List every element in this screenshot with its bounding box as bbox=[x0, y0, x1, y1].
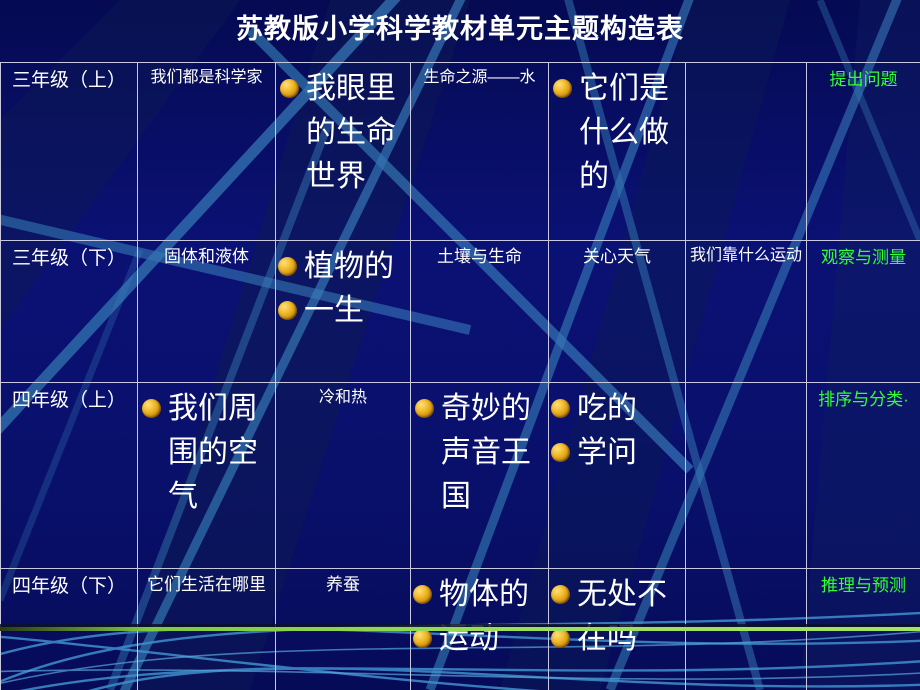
unit-label: 无处不 bbox=[577, 573, 683, 617]
gold-bullet-icon bbox=[551, 443, 570, 462]
unit-label: 土壤与生命 bbox=[411, 241, 548, 269]
unit-label: 生命之源——水 bbox=[411, 63, 548, 89]
gold-bullet-icon bbox=[551, 629, 570, 648]
bottom-green-rule bbox=[0, 627, 920, 631]
skill-label: 推理与预测 bbox=[807, 569, 920, 599]
grade-cell: 三年级（下） bbox=[1, 241, 138, 383]
unit-cell-empty bbox=[686, 63, 807, 241]
unit-label: 我们周围的空气 bbox=[168, 387, 273, 519]
unit-label: 养蚕 bbox=[276, 569, 410, 597]
unit-cell: 土壤与生命 bbox=[411, 241, 549, 383]
unit-cell: 我们靠什么运动 bbox=[686, 241, 807, 383]
gold-bullet-icon bbox=[553, 79, 572, 98]
unit-label bbox=[686, 63, 806, 67]
bullet-line: 一生 bbox=[278, 289, 408, 333]
unit-label: 我们都是科学家 bbox=[138, 63, 275, 89]
grade-cell: 三年级（上） bbox=[1, 63, 138, 241]
gold-bullet-icon bbox=[551, 585, 570, 604]
unit-label: 关心天气 bbox=[549, 241, 685, 269]
unit-label: 物体的 bbox=[439, 573, 546, 617]
bullet-line: 植物的 bbox=[278, 245, 408, 289]
unit-label: 吃的 bbox=[577, 387, 683, 431]
unit-cell: 生命之源——水 bbox=[411, 63, 549, 241]
unit-label: 我眼里的生命世界 bbox=[306, 67, 408, 199]
grade-label: 三年级（上） bbox=[1, 63, 137, 94]
unit-cell: 我们周围的空气 bbox=[138, 383, 276, 569]
gold-bullet-icon bbox=[415, 399, 434, 418]
unit-bulleted: 我眼里的生命世界 bbox=[276, 63, 410, 199]
unit-label bbox=[686, 569, 806, 573]
unit-theme-table: 三年级（上） 我们都是科学家 我眼里的生命世界 生命之源——水 bbox=[0, 62, 920, 690]
unit-bulleted: 奇妙的声音王国 bbox=[411, 383, 548, 519]
gold-bullet-icon bbox=[280, 79, 299, 98]
grade-label: 四年级（上） bbox=[1, 383, 137, 414]
gold-bullet-icon bbox=[142, 399, 161, 418]
bullet-line: 吃的 bbox=[551, 387, 683, 431]
unit-label: 植物的 bbox=[304, 245, 408, 289]
slide-title: 苏教版小学科学教材单元主题构造表 bbox=[0, 12, 920, 46]
unit-cell: 吃的 学问 bbox=[549, 383, 686, 569]
unit-bulleted: 吃的 学问 bbox=[549, 383, 685, 475]
skill-cell: 排序与分类· bbox=[807, 383, 920, 569]
grade-label: 四年级（下） bbox=[1, 569, 137, 600]
unit-label: 固体和液体 bbox=[138, 241, 275, 269]
grade-cell: 四年级（上） bbox=[1, 383, 138, 569]
skill-label: 观察与测量 bbox=[807, 241, 920, 271]
unit-cell: 冷和热 bbox=[276, 383, 411, 569]
gold-bullet-icon bbox=[413, 585, 432, 604]
skill-label: 提出问题 bbox=[807, 63, 920, 93]
slide-canvas: 苏教版小学科学教材单元主题构造表 三年级（上） 我们都是科学家 我眼里的生命世界 bbox=[0, 0, 920, 690]
unit-bulleted: 我们周围的空气 bbox=[138, 383, 275, 519]
bullet-line: 学问 bbox=[551, 431, 683, 475]
unit-label: 奇妙的声音王国 bbox=[441, 387, 546, 519]
unit-bulleted: 植物的 一生 bbox=[276, 241, 410, 333]
unit-bulleted: 它们是什么做的 bbox=[549, 63, 685, 199]
unit-label: 我们靠什么运动 bbox=[686, 241, 806, 267]
unit-cell: 植物的 一生 bbox=[276, 241, 411, 383]
unit-bulleted: 物体的 运动 bbox=[411, 569, 548, 661]
bullet-line: 物体的 bbox=[413, 573, 546, 617]
unit-label bbox=[686, 383, 806, 387]
unit-label: 冷和热 bbox=[276, 383, 410, 409]
table-row: 三年级（上） 我们都是科学家 我眼里的生命世界 生命之源——水 bbox=[1, 63, 920, 241]
table-row: 三年级（下） 固体和液体 植物的 一生 bbox=[1, 241, 920, 383]
unit-label: 它们是什么做的 bbox=[579, 67, 683, 199]
table-row: 四年级（上） 我们周围的空气 冷和热 奇妙的声音王国 bbox=[1, 383, 920, 569]
skill-label: 排序与分类· bbox=[807, 383, 920, 413]
bullet-line: 无处不 bbox=[551, 573, 683, 617]
skill-cell: 提出问题 bbox=[807, 63, 920, 241]
unit-cell: 我们都是科学家 bbox=[138, 63, 276, 241]
unit-cell-empty bbox=[686, 383, 807, 569]
unit-label: 它们生活在哪里 bbox=[138, 569, 275, 597]
gold-bullet-icon bbox=[413, 629, 432, 648]
gold-bullet-icon bbox=[551, 399, 570, 418]
unit-cell: 固体和液体 bbox=[138, 241, 276, 383]
unit-cell: 我眼里的生命世界 bbox=[276, 63, 411, 241]
unit-cell: 关心天气 bbox=[549, 241, 686, 383]
unit-label-2: 学问 bbox=[577, 431, 683, 475]
unit-label-2: 一生 bbox=[304, 289, 408, 333]
unit-cell: 奇妙的声音王国 bbox=[411, 383, 549, 569]
skill-cell: 观察与测量 bbox=[807, 241, 920, 383]
unit-cell: 它们是什么做的 bbox=[549, 63, 686, 241]
gold-bullet-icon bbox=[278, 257, 297, 276]
grade-label: 三年级（下） bbox=[1, 241, 137, 272]
unit-bulleted: 无处不 在吗 bbox=[549, 569, 685, 661]
gold-bullet-icon bbox=[278, 301, 297, 320]
